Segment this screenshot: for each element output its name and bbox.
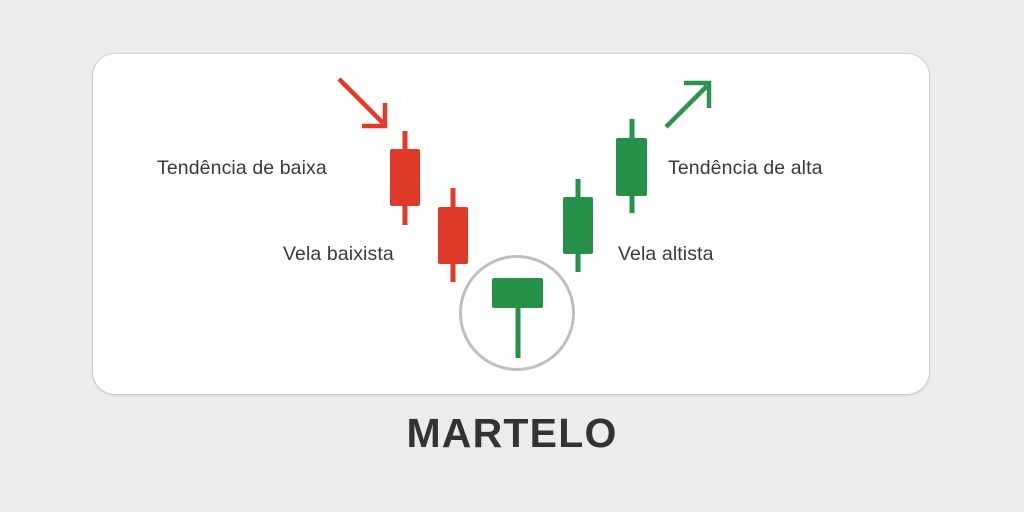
page-title: MARTELO	[0, 410, 1024, 457]
arrow-up-right-icon	[663, 76, 721, 134]
label-bullish-candle: Vela altista	[618, 243, 714, 266]
candle-body	[563, 197, 593, 254]
label-bearish-candle: Vela baixista	[283, 243, 394, 266]
candlestick-chart: Tendência de baixa Vela baixista Tendênc…	[93, 54, 929, 394]
candle-bearish-2	[438, 188, 468, 282]
arrow-down-right-icon	[336, 76, 394, 134]
label-downtrend: Tendência de baixa	[157, 157, 327, 180]
circle-highlight-icon	[459, 255, 575, 371]
candle-bearish-1	[390, 131, 420, 225]
candle-body	[438, 207, 468, 264]
candle-bullish-1	[563, 179, 593, 272]
label-uptrend: Tendência de alta	[668, 157, 823, 180]
chart-card: Tendência de baixa Vela baixista Tendênc…	[93, 54, 929, 394]
candle-body	[616, 138, 647, 196]
infographic-root: Tendência de baixa Vela baixista Tendênc…	[0, 0, 1024, 512]
candle-bullish-2	[616, 119, 647, 213]
candle-body	[390, 149, 420, 206]
